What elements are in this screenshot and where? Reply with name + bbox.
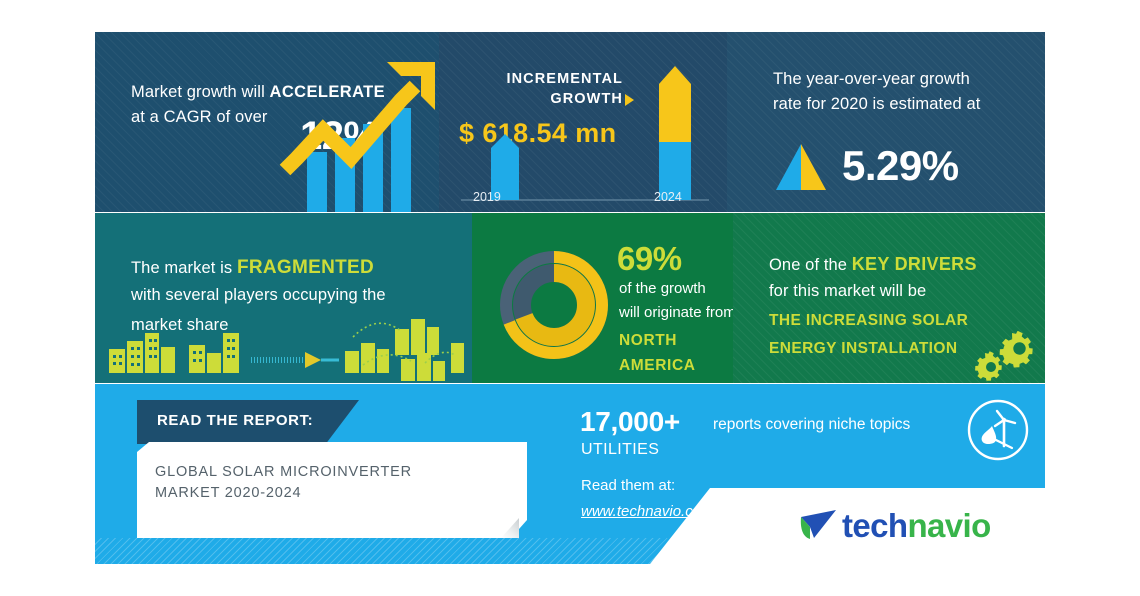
logo-text-navio: navio [907, 507, 990, 544]
panel-key-drivers: One of the KEY DRIVERS for this market w… [733, 213, 1045, 383]
drivers-text-line1: One of the KEY DRIVERS [769, 253, 1039, 277]
donut-chart-north-america [494, 241, 614, 369]
donut-text-line1: of the growth [619, 279, 733, 299]
wind-turbine-droplet-icon [966, 398, 1030, 462]
gears-icon [965, 331, 1039, 383]
donut-percent-value: 69% [617, 237, 682, 281]
technavio-logo[interactable]: technavio [798, 504, 1033, 548]
read-the-report-label: READ THE REPORT: [157, 412, 313, 429]
incremental-year-start: 2019 [473, 190, 501, 204]
donut-region-line2: AMERICA [619, 356, 733, 376]
panel-footer: READ THE REPORT: GLOBAL SOLAR MICROINVER… [95, 384, 1045, 564]
donut-region-line1: NORTH [619, 331, 733, 351]
panel-fragmented-market: The market is FRAGMENTED with several pl… [95, 213, 472, 383]
report-title: GLOBAL SOLAR MICROINVERTER MARKET 2020-2… [155, 462, 475, 504]
incremental-year-end: 2024 [654, 190, 682, 204]
donut-text-line2: will originate from [619, 303, 733, 323]
fragmented-prefix: The market is [131, 259, 237, 277]
drivers-prefix: One of the [769, 256, 852, 274]
driver-detail-line1: THE INCREASING SOLAR [769, 311, 1029, 331]
panel-cagr: Market growth will ACCELERATE at a CAGR … [95, 32, 439, 212]
logo-text-tech: tech [842, 507, 907, 544]
technavio-wordmark: technavio [842, 504, 991, 548]
cagr-growth-chart-icon [275, 52, 439, 212]
yoy-text-line2: rate for 2020 is estimated at [773, 94, 1023, 116]
fragmented-text-line1: The market is FRAGMENTED [131, 255, 461, 280]
infographic-root: Market growth will ACCELERATE at a CAGR … [95, 32, 1045, 564]
panel-incremental-growth: INCREMENTAL GROWTH $ 618.54 mn 2019 2024 [439, 32, 727, 212]
incremental-growth-bar-chart [453, 52, 717, 212]
technavio-arrow-icon [798, 508, 838, 544]
growth-triangle-icon [773, 142, 829, 192]
report-count-description: reports covering niche topics [713, 416, 910, 434]
report-count-value: 17,000+ [580, 406, 680, 438]
report-category: UTILITIES [581, 441, 659, 459]
drivers-text-line2: for this market will be [769, 281, 1039, 303]
fragmented-bold: FRAGMENTED [237, 257, 374, 278]
yoy-text-line1: The year-over-year growth [773, 69, 1023, 91]
panel-regional-share: 69% of the growth will originate from NO… [472, 213, 733, 383]
panel-yoy-growth: The year-over-year growth rate for 2020 … [727, 32, 1045, 212]
market-fragmentation-illustration [95, 303, 472, 383]
drivers-bold: KEY DRIVERS [852, 254, 977, 274]
cagr-line1-prefix: Market growth will [131, 83, 270, 101]
yoy-value: 5.29% [842, 138, 959, 193]
read-them-at-label: Read them at: [581, 477, 675, 494]
